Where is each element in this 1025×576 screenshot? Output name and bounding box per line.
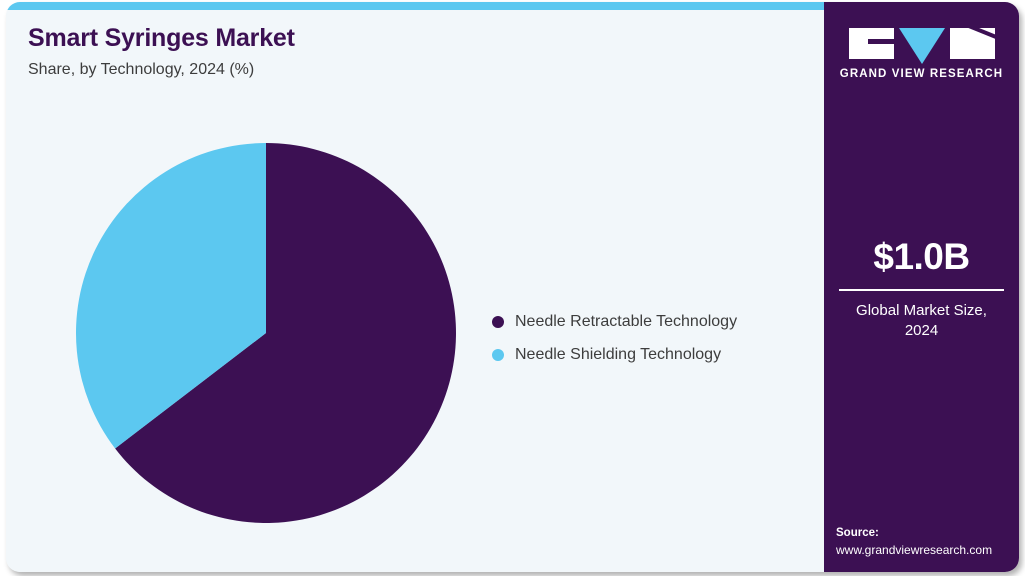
page-subtitle: Share, by Technology, 2024 (%)	[28, 60, 728, 79]
chart-pane: Smart Syringes Market Share, by Technolo…	[6, 2, 824, 572]
source-label: Source:	[836, 525, 1019, 542]
letter-r-block-icon	[950, 28, 995, 59]
legend-swatch-icon-needle-retractable-technology	[492, 316, 504, 328]
legend-item-needle-retractable-technology: Needle Retractable Technology	[492, 305, 802, 338]
infographic-card: Smart Syringes Market Share, by Technolo…	[6, 2, 1019, 572]
infographic-root: Smart Syringes Market Share, by Technolo…	[0, 0, 1025, 576]
letter-g-block-icon	[849, 28, 894, 59]
market-size-caption: Global Market Size, 2024	[824, 301, 1019, 342]
source-url: www.grandviewresearch.com	[836, 542, 1019, 558]
brand-logo: GRAND VIEW RESEARCH	[824, 28, 1019, 80]
brand-panel: GRAND VIEW RESEARCH $1.0B Global Market …	[824, 2, 1019, 572]
brand-logo-marks	[824, 28, 1019, 60]
pie-chart	[74, 141, 458, 525]
stat-divider	[839, 289, 1004, 291]
market-size-value: $1.0B	[824, 238, 1019, 275]
legend-swatch-icon-needle-shielding-technology	[492, 349, 504, 361]
legend-label-needle-retractable-technology: Needle Retractable Technology	[515, 314, 737, 330]
source-block: Source: www.grandviewresearch.com	[836, 525, 1019, 558]
legend-label-needle-shielding-technology: Needle Shielding Technology	[515, 347, 721, 363]
title-block: Smart Syringes Market Share, by Technolo…	[28, 24, 728, 79]
letter-v-triangle-icon	[899, 28, 945, 64]
market-size-stat: $1.0B Global Market Size, 2024	[824, 238, 1019, 342]
top-accent-bar	[6, 2, 824, 10]
brand-logo-text: GRAND VIEW RESEARCH	[824, 68, 1019, 80]
page-title: Smart Syringes Market	[28, 24, 728, 53]
legend-item-needle-shielding-technology: Needle Shielding Technology	[492, 338, 802, 371]
chart-legend: Needle Retractable Technology Needle Shi…	[492, 305, 802, 371]
pie-chart-svg	[74, 141, 458, 525]
